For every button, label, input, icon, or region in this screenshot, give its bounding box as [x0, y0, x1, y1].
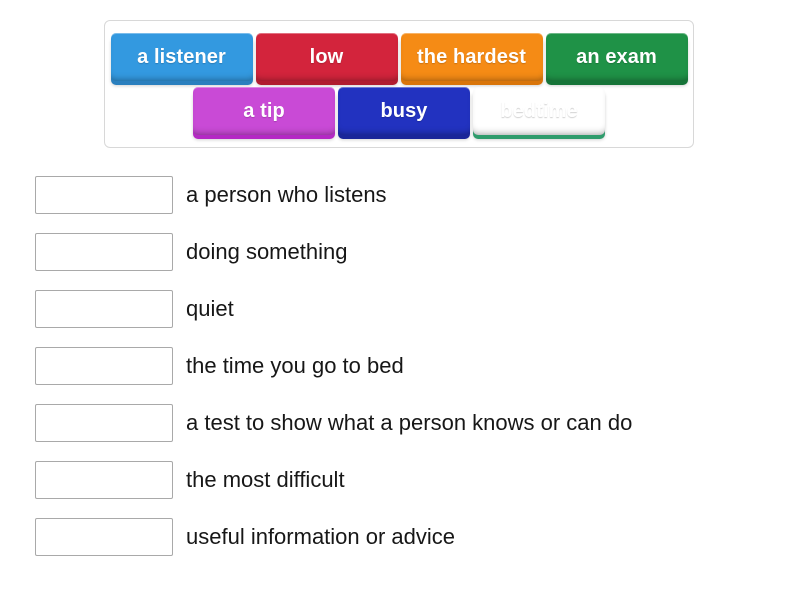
word-tile-a-listener[interactable]: a listener — [111, 33, 253, 81]
definition-text: a person who listens — [186, 184, 387, 206]
definition-text: doing something — [186, 241, 347, 263]
word-tile-label: a listener — [137, 46, 226, 69]
word-tile-label: a tip — [243, 100, 285, 123]
question-row: quiet — [35, 290, 775, 328]
word-bank-container: a listener low the hardest an exam a tip… — [104, 20, 694, 148]
word-tile-bedtime[interactable]: bedtime — [473, 87, 605, 135]
word-tile-label: bedtime — [500, 100, 577, 123]
question-row: the most difficult — [35, 461, 775, 499]
question-row: the time you go to bed — [35, 347, 775, 385]
definition-text: quiet — [186, 298, 234, 320]
word-tile-low[interactable]: low — [256, 33, 398, 81]
word-tile-a-tip[interactable]: a tip — [193, 87, 335, 135]
word-tile-an-exam[interactable]: an exam — [546, 33, 688, 81]
word-bank-row-2: a tip busy bedtime — [105, 87, 693, 135]
word-tile-the-hardest[interactable]: the hardest — [401, 33, 543, 81]
answer-drop-box[interactable] — [35, 347, 173, 385]
definition-text: useful information or advice — [186, 526, 455, 548]
question-list: a person who listens doing something qui… — [35, 176, 775, 575]
question-row: a test to show what a person knows or ca… — [35, 404, 775, 442]
word-tile-busy[interactable]: busy — [338, 87, 470, 135]
question-row: useful information or advice — [35, 518, 775, 556]
word-tile-label: an exam — [576, 46, 657, 69]
question-row: a person who listens — [35, 176, 775, 214]
word-tile-label: the hardest — [417, 46, 526, 69]
answer-drop-box[interactable] — [35, 518, 173, 556]
answer-drop-box[interactable] — [35, 233, 173, 271]
definition-text: the most difficult — [186, 469, 345, 491]
answer-drop-box[interactable] — [35, 290, 173, 328]
answer-drop-box[interactable] — [35, 461, 173, 499]
word-bank-row-1: a listener low the hardest an exam — [105, 33, 693, 81]
definition-text: the time you go to bed — [186, 355, 404, 377]
word-tile-label: busy — [380, 100, 427, 123]
answer-drop-box[interactable] — [35, 176, 173, 214]
definition-text: a test to show what a person knows or ca… — [186, 412, 632, 434]
answer-drop-box[interactable] — [35, 404, 173, 442]
word-tile-label: low — [310, 46, 344, 69]
question-row: doing something — [35, 233, 775, 271]
